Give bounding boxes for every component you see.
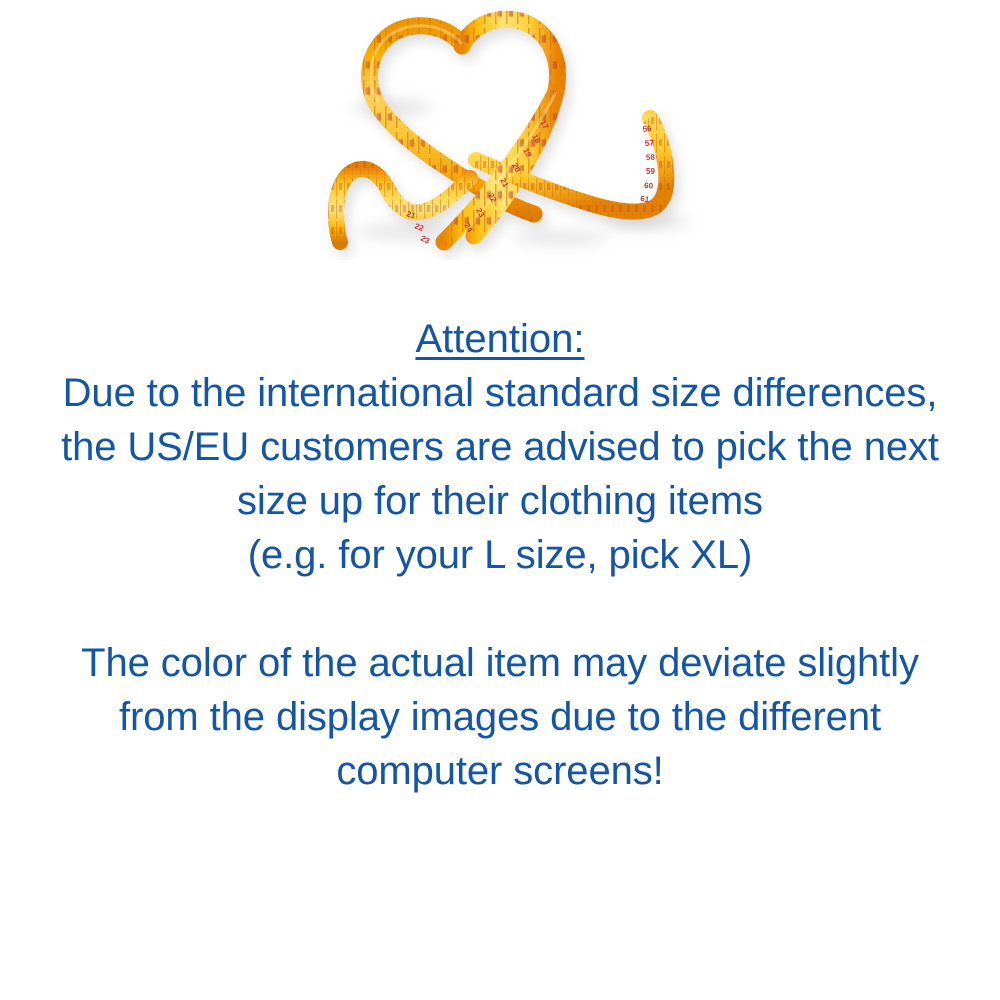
svg-text:57: 57 [645, 138, 655, 148]
paragraph-sizing-line-1: Due to the international standard size d… [0, 366, 1000, 420]
svg-text:59: 59 [646, 167, 655, 176]
svg-text:58: 58 [646, 153, 656, 162]
paragraph-color-line-3: computer screens! [0, 744, 1000, 798]
paragraph-spacer [0, 582, 1000, 636]
paragraph-color-line-1: The color of the actual item may deviate… [0, 636, 1000, 690]
paragraph-sizing-line-3: size up for their clothing items [0, 474, 1000, 528]
svg-text:60: 60 [644, 181, 654, 190]
paragraph-sizing-line-4: (e.g. for your L size, pick XL) [0, 528, 1000, 582]
size-notice-text: Attention: Due to the international stan… [0, 312, 1000, 798]
size-notice-page: 56 57 58 59 60 61 21 22 23 [0, 0, 1000, 1000]
svg-text:61: 61 [640, 194, 651, 204]
measuring-tape-heart-image: 56 57 58 59 60 61 21 22 23 [0, 0, 1000, 260]
paragraph-sizing-line-2: the US/EU customers are advised to pick … [0, 420, 1000, 474]
paragraph-sizing: Due to the international standard size d… [0, 366, 1000, 582]
paragraph-color: The color of the actual item may deviate… [0, 636, 1000, 798]
attention-heading: Attention: [0, 312, 1000, 366]
svg-text:56: 56 [642, 124, 652, 134]
paragraph-color-line-2: from the display images due to the diffe… [0, 690, 1000, 744]
